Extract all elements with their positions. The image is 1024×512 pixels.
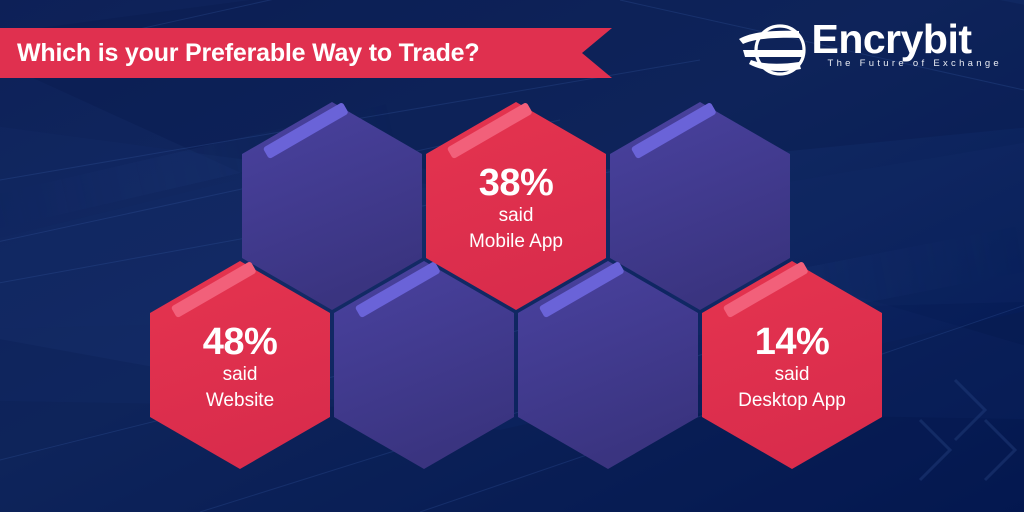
header: Which is your Preferable Way to Trade? E…: [0, 0, 1024, 110]
logo-wordmark: Encrybit: [811, 17, 1002, 61]
brand-logo: Encrybit The Future of Exchange: [737, 17, 1002, 81]
title-banner: Which is your Preferable Way to Trade?: [0, 28, 612, 78]
logo-text-block: Encrybit The Future of Exchange: [811, 17, 1002, 69]
encrybit-wing-logo-icon: [737, 19, 809, 81]
page-title: Which is your Preferable Way to Trade?: [0, 39, 479, 68]
logo-tagline: The Future of Exchange: [811, 58, 1002, 69]
